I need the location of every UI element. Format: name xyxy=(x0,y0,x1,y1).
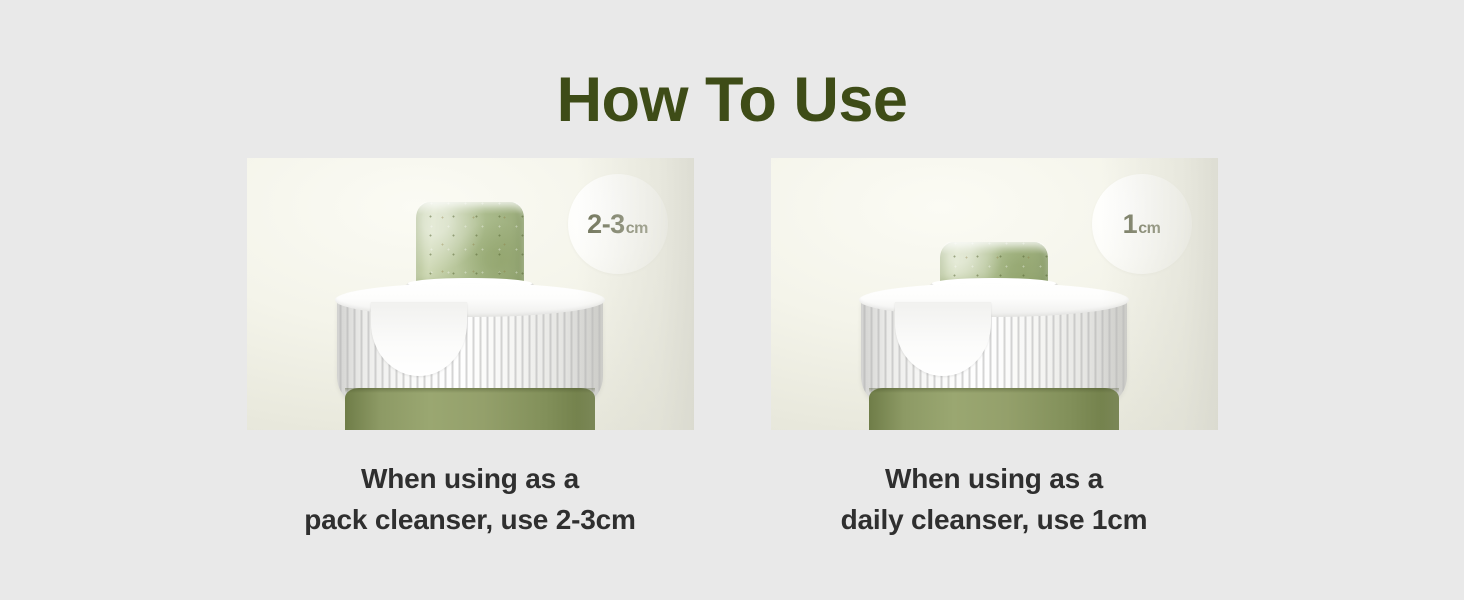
step-caption-line-1: When using as a xyxy=(841,458,1148,499)
bottle-body xyxy=(345,388,595,430)
amount-badge-unit: cm xyxy=(1138,221,1160,237)
amount-badge-unit: cm xyxy=(626,221,648,237)
cream-dollop-icon xyxy=(416,202,524,286)
step-caption-line-2: pack cleanser, use 2-3cm xyxy=(304,499,635,540)
step-card-pack-cleanser: 2-3 cm When using as a pack cleanser, us… xyxy=(247,158,694,558)
bottle-cap-thumb-tab xyxy=(895,302,991,376)
amount-badge-pack-cleanser: 2-3 cm xyxy=(568,174,668,274)
amount-badge-value: 1 xyxy=(1123,211,1138,238)
step-caption-line-2: daily cleanser, use 1cm xyxy=(841,499,1148,540)
how-to-use-section: How To Use 2-3 cm xyxy=(0,0,1464,600)
step-caption-pack-cleanser: When using as a pack cleanser, use 2-3cm xyxy=(304,458,635,540)
step-caption-daily-cleanser: When using as a daily cleanser, use 1cm xyxy=(841,458,1148,540)
step-caption-line-1: When using as a xyxy=(304,458,635,499)
step-card-daily-cleanser: 1 cm When using as a daily cleanser, use… xyxy=(771,158,1218,558)
steps-container: 2-3 cm When using as a pack cleanser, us… xyxy=(0,158,1464,558)
bottle-cap xyxy=(861,294,1127,402)
bottle-body xyxy=(869,388,1119,430)
amount-badge-text: 2-3 cm xyxy=(587,211,648,238)
product-photo-daily-cleanser: 1 cm xyxy=(771,158,1218,430)
bottle-cap xyxy=(337,294,603,402)
bottle-cap-thumb-tab xyxy=(371,302,467,376)
product-photo-pack-cleanser: 2-3 cm xyxy=(247,158,694,430)
amount-badge-value: 2-3 xyxy=(587,211,625,238)
amount-badge-text: 1 cm xyxy=(1123,211,1161,238)
amount-badge-daily-cleanser: 1 cm xyxy=(1092,174,1192,274)
page-title: How To Use xyxy=(0,62,1464,138)
